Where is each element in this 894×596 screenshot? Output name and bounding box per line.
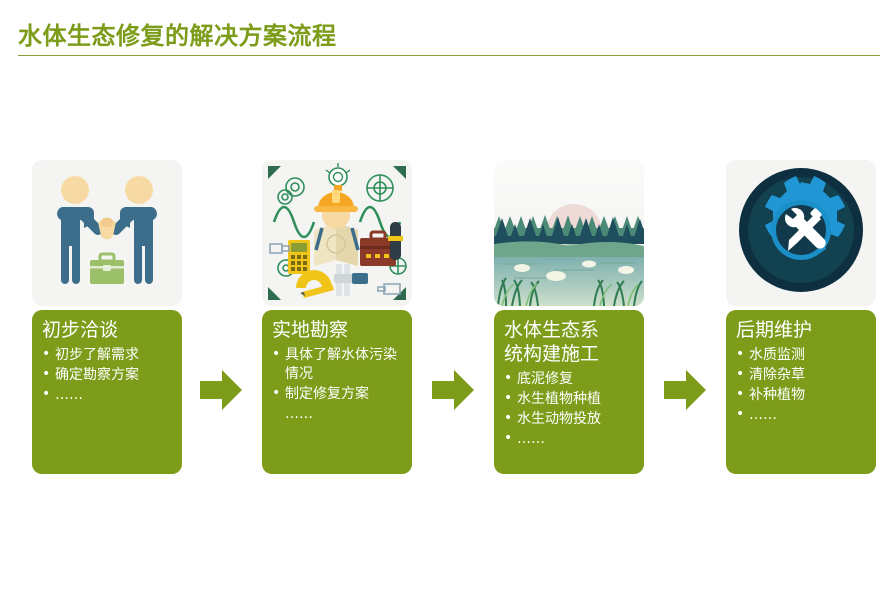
gear-tools-illustration (726, 160, 876, 306)
flow-step-title: 初步洽谈 (42, 318, 172, 342)
arrow-right-icon (432, 370, 474, 410)
flow-step-card-3[interactable]: 水体生态系 统构建施工 底泥修复 水生植物种植 水生动物投放 …… (494, 160, 644, 474)
list-item: 具体了解水体污染情况 (272, 346, 402, 384)
flow-arrow-right (664, 370, 706, 410)
list-item: …… (504, 430, 634, 449)
flow-arrow-right (432, 370, 474, 410)
flow-step-card-2[interactable]: 实地勘察 具体了解水体污染情况 制定修复方案 …… (262, 160, 412, 474)
list-item: 水生植物种植 (504, 390, 634, 409)
gear-tools-icon (726, 160, 876, 306)
flow-step-title: 后期维护 (736, 318, 866, 342)
list-item: 清除杂草 (736, 366, 866, 385)
site-survey-illustration (262, 160, 412, 306)
flow-step-panel-2: 实地勘察 具体了解水体污染情况 制定修复方案 …… (262, 310, 412, 474)
flow-step-panel-3: 水体生态系 统构建施工 底泥修复 水生植物种植 水生动物投放 …… (494, 310, 644, 474)
list-item: 制定修复方案 (272, 385, 402, 404)
flow-step-bullets: 初步了解需求 确定勘察方案 …… (42, 346, 172, 405)
list-item: …… (272, 405, 402, 424)
flow-step-panel-1: 初步洽谈 初步了解需求 确定勘察方案 …… (32, 310, 182, 474)
flow-step-card-1[interactable]: 初步洽谈 初步了解需求 确定勘察方案 …… (32, 160, 182, 474)
flow-step-bullets: 具体了解水体污染情况 制定修复方案 …… (272, 346, 402, 424)
flow-arrow-right (200, 370, 242, 410)
list-item: 初步了解需求 (42, 346, 172, 365)
lake-landscape-illustration (494, 160, 644, 306)
list-item: 底泥修复 (504, 370, 634, 389)
lake-landscape-icon (494, 160, 644, 306)
list-item: 水生动物投放 (504, 410, 634, 429)
list-item: 补种植物 (736, 386, 866, 405)
list-item: 确定勘察方案 (42, 366, 172, 385)
flow-step-panel-4: 后期维护 水质监测 清除杂草 补种植物 …… (726, 310, 876, 474)
flow-step-bullets: 底泥修复 水生植物种植 水生动物投放 …… (504, 370, 634, 449)
page-title: 水体生态修复的解决方案流程 (18, 16, 337, 51)
flow-step-card-4[interactable]: 后期维护 水质监测 清除杂草 补种植物 …… (726, 160, 876, 474)
arrow-right-icon (664, 370, 706, 410)
list-item: 水质监测 (736, 346, 866, 365)
handshake-icon (32, 160, 182, 306)
title-divider (18, 55, 880, 56)
handshake-illustration (32, 160, 182, 306)
list-item: …… (736, 406, 866, 425)
list-item: …… (42, 386, 172, 405)
process-flow: 初步洽谈 初步了解需求 确定勘察方案 …… (0, 160, 894, 490)
site-survey-icon (262, 160, 412, 306)
arrow-right-icon (200, 370, 242, 410)
flow-step-bullets: 水质监测 清除杂草 补种植物 …… (736, 346, 866, 425)
flow-step-title: 实地勘察 (272, 318, 402, 342)
flow-step-title: 水体生态系 统构建施工 (504, 318, 634, 366)
